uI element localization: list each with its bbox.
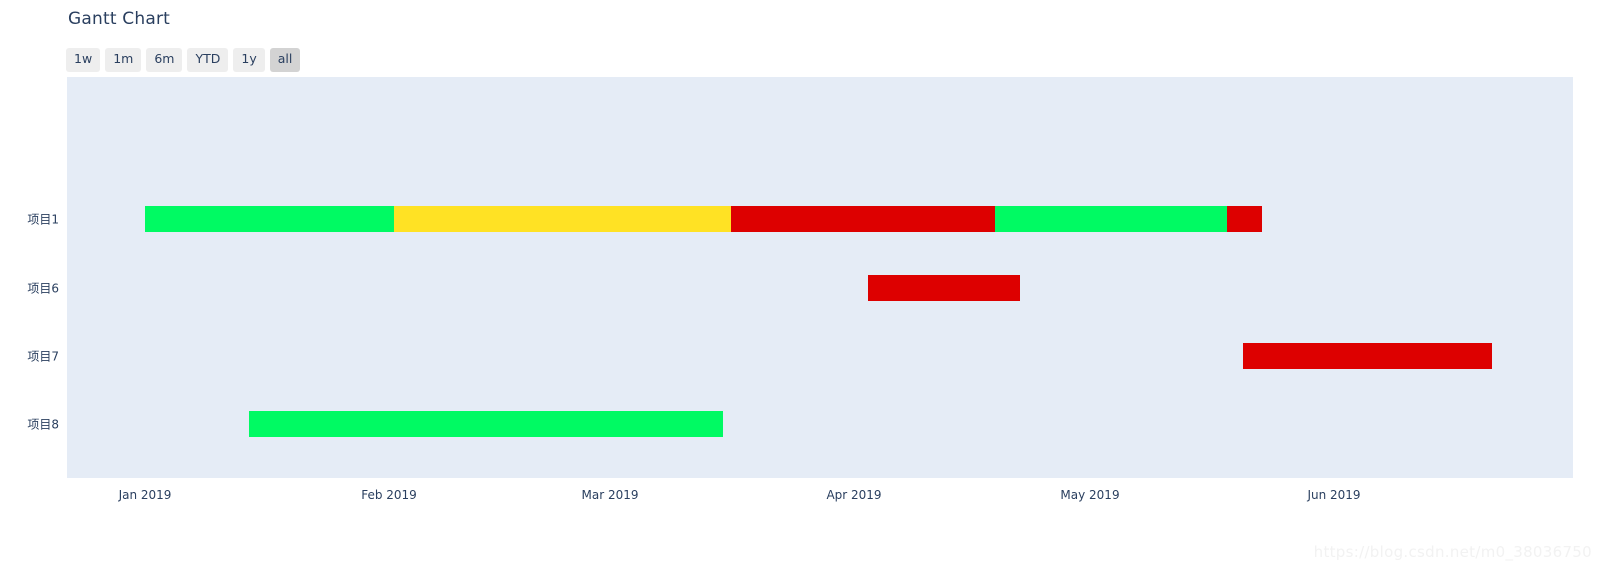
watermark: https://blog.csdn.net/m0_38036750 (1314, 543, 1592, 561)
gantt-bar-segment[interactable] (145, 206, 394, 232)
x-axis-tick-label: Apr 2019 (826, 488, 881, 502)
gantt-bar-segment[interactable] (868, 275, 1020, 301)
range-button-all[interactable]: all (270, 48, 301, 72)
range-button-1y[interactable]: 1y (233, 48, 264, 72)
y-axis-tick-label: 项目1 (0, 211, 59, 228)
gantt-bar-segment[interactable] (1243, 343, 1492, 369)
plot-area[interactable] (67, 77, 1573, 478)
gantt-bar-segment[interactable] (731, 206, 995, 232)
gantt-bar-segment[interactable] (995, 206, 1227, 232)
y-axis-tick-label: 项目7 (0, 348, 59, 365)
gantt-bar-segment[interactable] (249, 411, 723, 437)
x-axis-tick-label: Mar 2019 (582, 488, 639, 502)
x-axis-tick-label: Jan 2019 (119, 488, 172, 502)
gantt-bar-segment[interactable] (1227, 206, 1262, 232)
range-button-ytd[interactable]: YTD (187, 48, 228, 72)
range-selector: 1w1m6mYTD1yall (66, 48, 300, 72)
x-axis-tick-label: May 2019 (1060, 488, 1119, 502)
y-axis-tick-label: 项目6 (0, 280, 59, 297)
range-button-1w[interactable]: 1w (66, 48, 100, 72)
y-axis-tick-label: 项目8 (0, 416, 59, 433)
x-axis-tick-label: Jun 2019 (1307, 488, 1360, 502)
x-axis-tick-label: Feb 2019 (361, 488, 417, 502)
page-title: Gantt Chart (68, 9, 170, 29)
range-button-1m[interactable]: 1m (105, 48, 141, 72)
range-button-6m[interactable]: 6m (146, 48, 182, 72)
gantt-bar-segment[interactable] (394, 206, 731, 232)
y-axis: 项目1项目6项目7项目8 (0, 0, 59, 584)
